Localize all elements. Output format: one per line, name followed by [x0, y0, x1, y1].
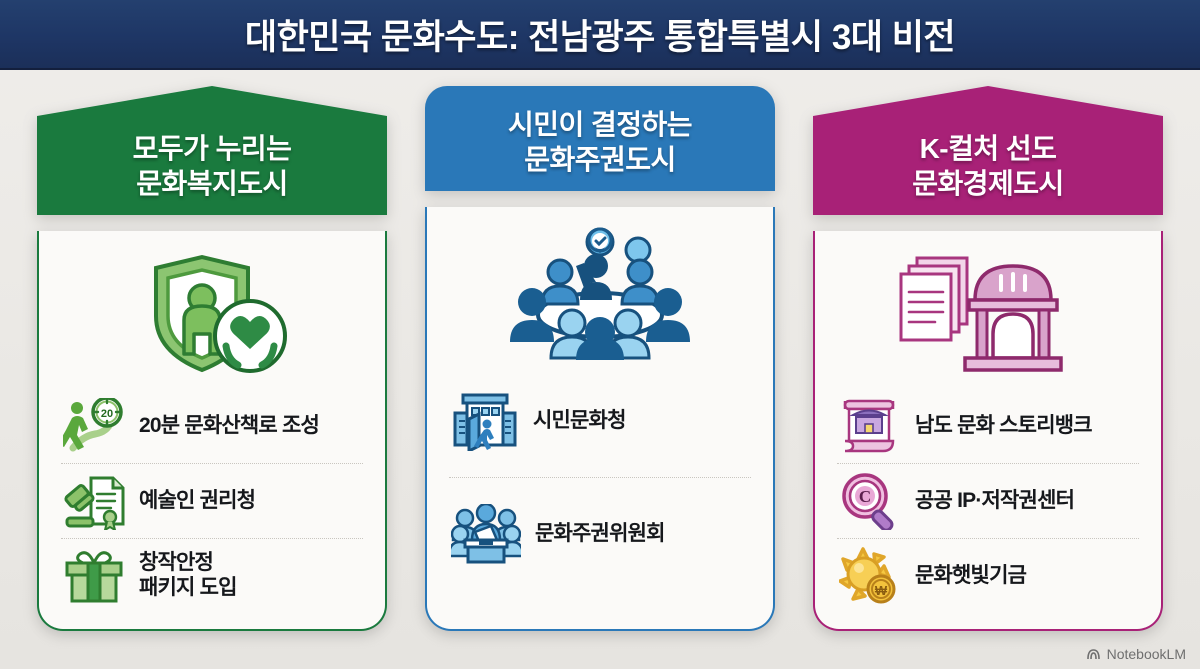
list-item-label: 20분 문화산책로 조성: [139, 414, 319, 439]
card-items-welfare: 20 20분 문화산책로 조성: [53, 389, 371, 619]
gavel-document-icon: [63, 470, 125, 532]
page-title: 대한민국 문화수도: 전남광주 통합특별시 3대 비전: [245, 9, 955, 60]
list-item-label: 공공 IP·저작권센터: [915, 489, 1074, 514]
svg-text:C: C: [859, 487, 871, 506]
gift-box-icon: [63, 545, 125, 607]
card-header-economy: K-컬처 선도 문화경제도시: [813, 86, 1163, 215]
list-item-label: 문화햇빛기금: [915, 564, 1026, 589]
list-item[interactable]: 20 20분 문화산책로 조성: [53, 389, 371, 463]
card-title-line1: 시민이 결정하는: [435, 108, 765, 143]
vision-card-economy: K-컬처 선도 문화경제도시: [813, 86, 1163, 631]
list-item[interactable]: 시민문화청: [441, 365, 759, 477]
card-title-line1: K-컬처 선도: [823, 132, 1153, 167]
watermark: NotebookLM: [1086, 646, 1186, 662]
card-body-sovereignty: 시민문화청: [425, 207, 775, 631]
card-body-welfare: 20 20분 문화산책로 조성: [37, 231, 387, 631]
title-bar: 대한민국 문화수도: 전남광주 통합특별시 3대 비전: [0, 0, 1200, 70]
walking-person-clock-icon: 20: [63, 395, 125, 457]
ballot-box-committee-icon: [451, 503, 521, 565]
list-item[interactable]: 문화주권위원회: [441, 478, 759, 590]
card-title-line2: 문화주권도시: [435, 143, 765, 178]
card-items-sovereignty: 시민문화청: [441, 365, 759, 619]
sun-won-coin-icon: ₩: [839, 545, 901, 607]
vision-card-sovereignty: 시민이 결정하는 문화주권도시: [425, 86, 775, 631]
list-item-label: 문화주권위원회: [535, 522, 665, 547]
vision-cards-row: 모두가 누리는 문화복지도시: [0, 70, 1200, 645]
list-item[interactable]: ₩ 문화햇빛기금: [829, 539, 1147, 613]
list-item-label: 남도 문화 스토리뱅크: [915, 414, 1092, 439]
documents-pavilion-icon: [829, 239, 1147, 389]
card-body-economy: 남도 문화 스토리뱅크 C: [813, 231, 1163, 631]
card-title-line2: 문화경제도시: [823, 167, 1153, 202]
card-title-line2: 문화복지도시: [47, 167, 377, 202]
list-item-label: 예술인 권리청: [139, 489, 255, 514]
vision-card-welfare: 모두가 누리는 문화복지도시: [37, 86, 387, 631]
card-title-line1: 모두가 누리는: [47, 132, 377, 167]
infographic-page: 대한민국 문화수도: 전남광주 통합특별시 3대 비전 모두가 누리는 문화복지…: [0, 0, 1200, 669]
scroll-hanok-icon: [839, 395, 901, 457]
card-items-economy: 남도 문화 스토리뱅크 C: [829, 389, 1147, 619]
shield-person-heart-hands-icon: [53, 239, 371, 389]
watermark-label: NotebookLM: [1107, 646, 1186, 662]
list-item[interactable]: 창작안정 패키지 도입: [53, 539, 371, 613]
card-header-welfare: 모두가 누리는 문화복지도시: [37, 86, 387, 215]
list-item[interactable]: 예술인 권리청: [53, 464, 371, 538]
list-item-label: 창작안정 패키지 도입: [139, 551, 237, 601]
card-header-sovereignty: 시민이 결정하는 문화주권도시: [425, 86, 775, 191]
government-building-entrance-icon: [451, 390, 519, 452]
svg-text:₩: ₩: [875, 583, 888, 598]
list-item[interactable]: C 공공 IP·저작권센터: [829, 464, 1147, 538]
notebooklm-logo-icon: [1086, 647, 1101, 662]
svg-text:20: 20: [101, 408, 113, 420]
list-item-label: 시민문화청: [533, 409, 626, 434]
copyright-magnifier-icon: C: [839, 470, 901, 532]
roundtable-discussion-icon: [441, 215, 759, 365]
list-item[interactable]: 남도 문화 스토리뱅크: [829, 389, 1147, 463]
